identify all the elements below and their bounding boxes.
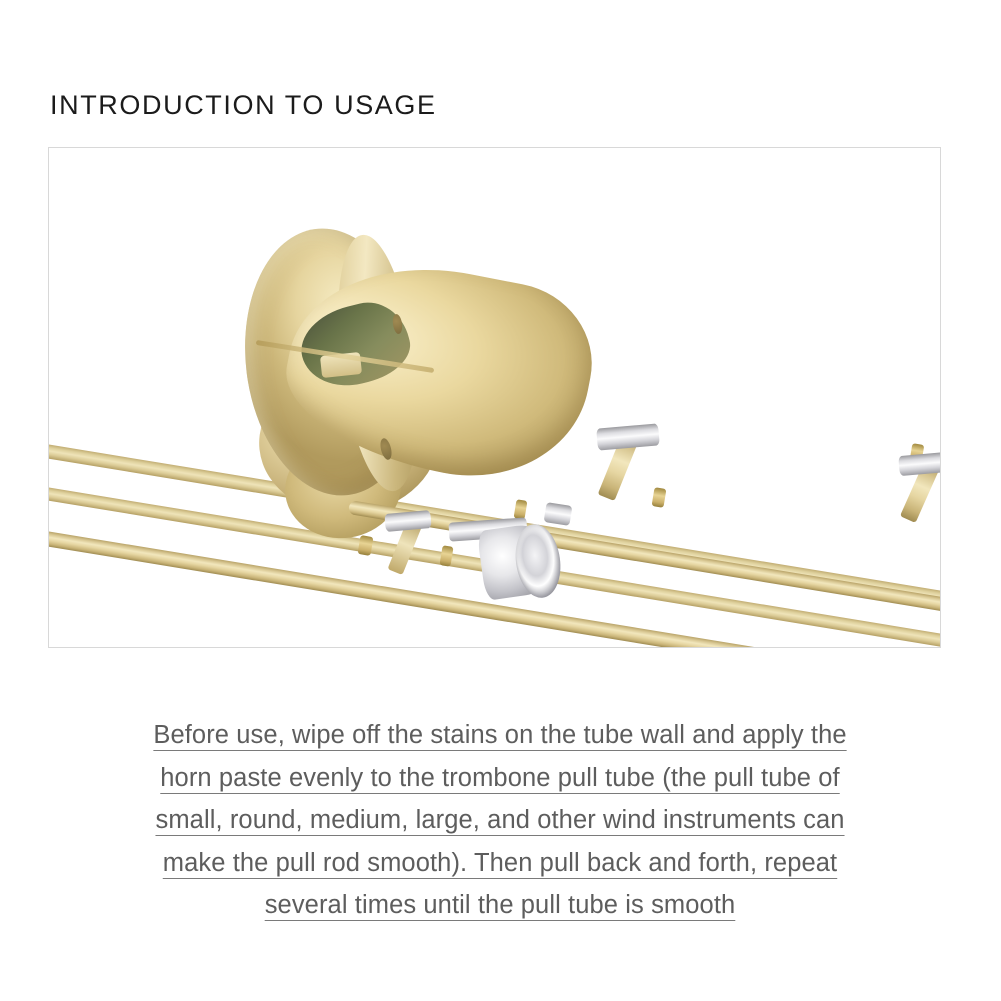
slide-brace-mid — [384, 510, 431, 532]
product-image-frame — [48, 147, 941, 648]
slide-ferrule-3 — [652, 487, 667, 508]
description-line: make the pull rod smooth). Then pull bac… — [55, 842, 945, 885]
product-detail-page: INTRODUCTION TO USAGE — [0, 0, 1001, 1001]
slide-brace-upper — [596, 423, 660, 450]
description-line: horn paste evenly to the trombone pull t… — [55, 757, 945, 800]
description-line: small, round, medium, large, and other w… — [55, 799, 945, 842]
description-line: Before use, wipe off the stains on the t… — [55, 714, 945, 757]
slide-brace-lower — [898, 452, 940, 476]
description-line: several times until the pull tube is smo… — [55, 884, 945, 927]
trombone-photo — [49, 148, 940, 647]
page-title: INTRODUCTION TO USAGE — [50, 88, 437, 122]
slide-lock-collar — [544, 502, 573, 526]
usage-description: Before use, wipe off the stains on the t… — [55, 714, 945, 927]
